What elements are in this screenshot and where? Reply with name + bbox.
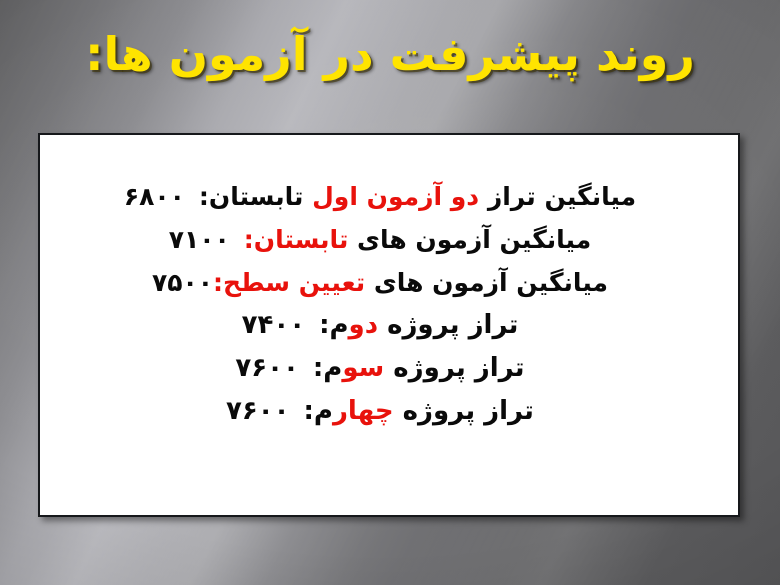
line-suffix: م: [313, 353, 342, 383]
line-prefix: تراز پروژه [378, 310, 518, 340]
content-line: تراز پروژه سوم:۷۶۰۰ [40, 347, 720, 390]
line-prefix: تراز پروژه [384, 353, 524, 383]
content-line-list: میانگین تراز دو آزمون اول تابستان:۶۸۰۰ م… [40, 175, 720, 433]
line-highlight: تعیین سطح: [213, 268, 365, 297]
content-line: میانگین آزمون های تابستان:۷۱۰۰ [40, 218, 720, 261]
line-highlight: تابستان: [244, 225, 349, 254]
line-value: ۶۸۰۰ [124, 182, 185, 211]
slide-title: روند پیشرفت در آزمون ها: [0, 28, 780, 81]
line-suffix: م: [319, 310, 348, 340]
content-line: تراز پروژه چهارم:۷۶۰۰ [40, 390, 720, 433]
line-suffix: تابستان: [199, 182, 312, 211]
content-panel: میانگین تراز دو آزمون اول تابستان:۶۸۰۰ م… [38, 133, 740, 517]
line-suffix: م: [304, 396, 333, 426]
line-value: ۷۶۰۰ [226, 396, 289, 426]
line-prefix: تراز پروژه [394, 396, 534, 426]
line-highlight: سو [342, 353, 384, 383]
content-line: میانگین تراز دو آزمون اول تابستان:۶۸۰۰ [40, 175, 720, 218]
line-prefix: میانگین آزمون های [348, 225, 591, 254]
line-highlight: چهار [333, 396, 394, 426]
line-highlight: دو [349, 310, 379, 340]
line-prefix: میانگین آزمون های [365, 268, 608, 297]
line-value: ۷۴۰۰ [242, 310, 305, 340]
content-line: میانگین آزمون های تعیین سطح:۷۵۰۰ [40, 261, 720, 304]
line-value: ۷۱۰۰ [169, 225, 230, 254]
line-value: ۷۶۰۰ [235, 353, 298, 383]
line-value: ۷۵۰۰ [152, 268, 213, 297]
content-line: تراز پروژه دوم:۷۴۰۰ [40, 304, 720, 347]
presentation-slide: روند پیشرفت در آزمون ها: میانگین تراز دو… [0, 0, 780, 585]
line-prefix: میانگین تراز [479, 182, 636, 211]
line-highlight: دو آزمون اول [312, 182, 479, 211]
